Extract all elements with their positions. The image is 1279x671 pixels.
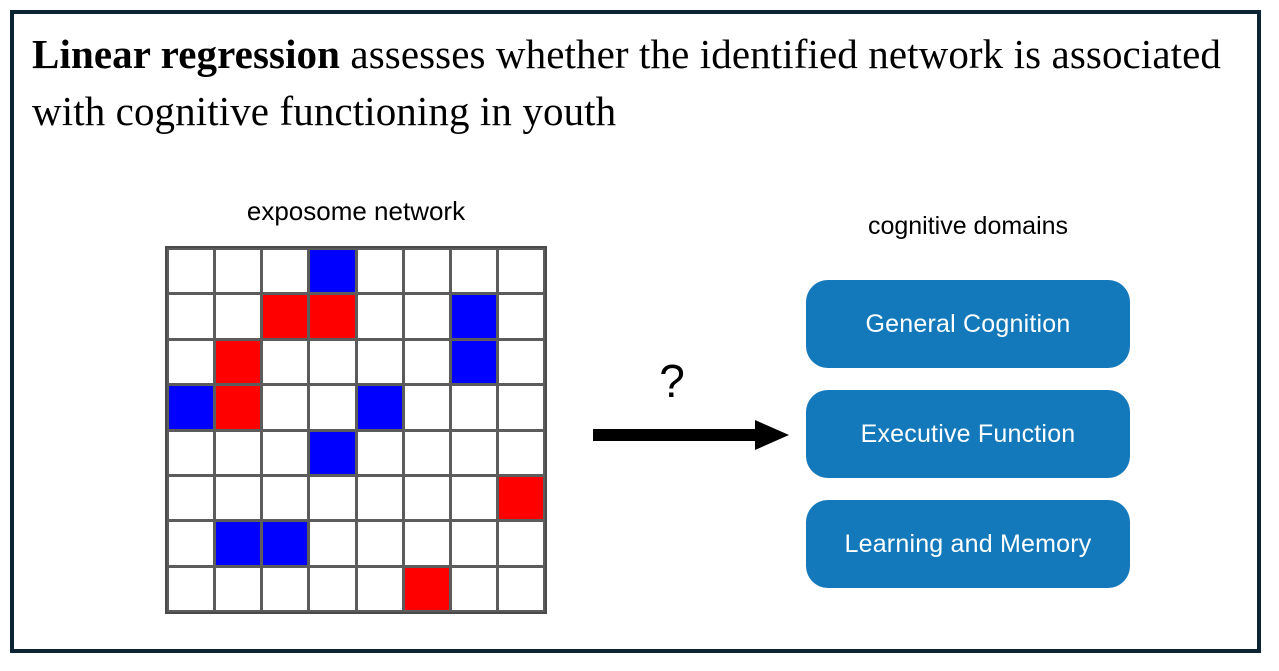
matrix-cell — [216, 341, 260, 383]
matrix-cell — [216, 250, 260, 292]
matrix-cell — [405, 250, 449, 292]
matrix-cell — [263, 250, 307, 292]
matrix-cell — [358, 432, 402, 474]
matrix-cell — [263, 477, 307, 519]
cognitive-domains-label: cognitive domains — [806, 212, 1130, 241]
matrix-cell — [405, 568, 449, 610]
matrix-cell — [499, 295, 543, 337]
matrix-cell — [499, 522, 543, 564]
matrix-cell — [310, 250, 354, 292]
matrix-grid — [169, 250, 543, 610]
matrix-cell — [358, 250, 402, 292]
matrix-cell — [216, 522, 260, 564]
exposome-network-label: exposome network — [167, 196, 545, 227]
matrix-cell — [499, 341, 543, 383]
matrix-cell — [310, 477, 354, 519]
matrix-cell — [358, 386, 402, 428]
matrix-cell — [499, 250, 543, 292]
domain-label: General Cognition — [866, 310, 1071, 339]
matrix-cell — [169, 250, 213, 292]
matrix-cell — [405, 386, 449, 428]
matrix-cell — [263, 568, 307, 610]
matrix-cell — [169, 522, 213, 564]
matrix-cell — [452, 295, 496, 337]
matrix-cell — [263, 522, 307, 564]
matrix-cell — [405, 341, 449, 383]
matrix-cell — [452, 477, 496, 519]
matrix-cell — [499, 568, 543, 610]
matrix-cell — [452, 341, 496, 383]
matrix-cell — [452, 250, 496, 292]
matrix-cell — [216, 432, 260, 474]
matrix-cell — [216, 386, 260, 428]
matrix-cell — [452, 432, 496, 474]
cognitive-domains-list: General Cognition Executive Function Lea… — [806, 280, 1130, 588]
matrix-cell — [499, 477, 543, 519]
page-title: Linear regression assesses whether the i… — [32, 26, 1222, 140]
domain-box-learning-and-memory[interactable]: Learning and Memory — [806, 500, 1130, 588]
matrix-cell — [358, 341, 402, 383]
matrix-cell — [169, 568, 213, 610]
domain-box-general-cognition[interactable]: General Cognition — [806, 280, 1130, 368]
matrix-cell — [216, 477, 260, 519]
slide-canvas: Linear regression assesses whether the i… — [0, 0, 1279, 671]
matrix-cell — [452, 386, 496, 428]
domain-label: Learning and Memory — [845, 530, 1092, 559]
matrix-cell — [310, 522, 354, 564]
exposome-network-matrix — [165, 246, 547, 614]
matrix-cell — [405, 477, 449, 519]
matrix-cell — [405, 522, 449, 564]
matrix-cell — [263, 341, 307, 383]
matrix-cell — [499, 386, 543, 428]
matrix-cell — [405, 295, 449, 337]
matrix-cell — [310, 386, 354, 428]
page-title-lead: Linear regression — [32, 31, 340, 77]
right-arrow-icon — [593, 418, 789, 452]
matrix-cell — [452, 522, 496, 564]
matrix-cell — [216, 295, 260, 337]
matrix-cell — [452, 568, 496, 610]
matrix-cell — [169, 386, 213, 428]
matrix-cell — [310, 568, 354, 610]
matrix-cell — [263, 432, 307, 474]
domain-box-executive-function[interactable]: Executive Function — [806, 390, 1130, 478]
matrix-cell — [358, 568, 402, 610]
matrix-cell — [169, 432, 213, 474]
matrix-cell — [310, 432, 354, 474]
matrix-cell — [216, 568, 260, 610]
matrix-cell — [263, 386, 307, 428]
matrix-cell — [358, 477, 402, 519]
matrix-cell — [310, 341, 354, 383]
matrix-cell — [169, 341, 213, 383]
matrix-cell — [405, 432, 449, 474]
matrix-cell — [169, 295, 213, 337]
question-mark: ? — [641, 358, 703, 404]
matrix-cell — [358, 522, 402, 564]
matrix-cell — [358, 295, 402, 337]
matrix-cell — [263, 295, 307, 337]
matrix-cell — [310, 295, 354, 337]
domain-label: Executive Function — [861, 420, 1076, 449]
matrix-cell — [499, 432, 543, 474]
matrix-cell — [169, 477, 213, 519]
